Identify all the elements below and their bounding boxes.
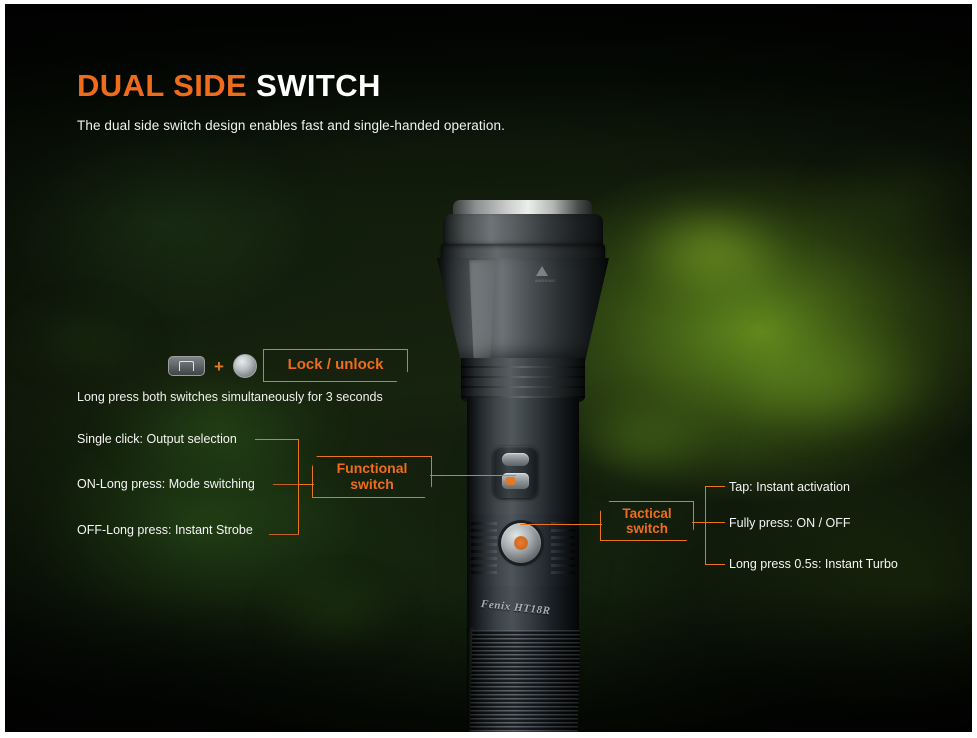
infographic-stage: DUAL SIDE SWITCH The dual side switch de… [5, 4, 972, 732]
functional-item-1: ON-Long press: Mode switching [77, 477, 255, 491]
functional-item-2: OFF-Long press: Instant Strobe [77, 523, 253, 537]
right-bracket-stub-1 [705, 522, 725, 523]
left-bracket-spine [298, 439, 299, 534]
bezel-warning-text: WARNING [515, 278, 575, 283]
page-subtitle: The dual side switch design enables fast… [77, 118, 505, 133]
header-block: DUAL SIDE SWITCH The dual side switch de… [77, 70, 505, 133]
knurled-grip [470, 630, 581, 732]
title-accent: DUAL SIDE [77, 68, 247, 103]
left-bracket-stub-1 [273, 484, 299, 485]
right-bracket-lead [692, 522, 706, 523]
title-plain: SWITCH [256, 68, 381, 103]
left-bracket-stub-0 [255, 439, 299, 440]
cooling-fins-right [551, 522, 575, 578]
tactical-badge-line1: Tactical [622, 506, 671, 521]
tactical-item-2: Long press 0.5s: Instant Turbo [729, 557, 898, 571]
tactical-switch-button[interactable] [501, 523, 541, 563]
functional-badge-line2: switch [350, 476, 394, 492]
reflector-cone [437, 258, 609, 362]
left-bracket-stub-2 [269, 534, 299, 535]
functional-badge-pointer [430, 475, 516, 476]
cooling-fins-left [471, 522, 497, 578]
tactical-switch-icon [233, 354, 257, 378]
head-neck [461, 358, 585, 402]
functional-switch-pad[interactable] [493, 446, 538, 498]
flashlight-product: WARNING Fenix HT18R [397, 200, 647, 732]
tactical-item-0: Tap: Instant activation [729, 480, 850, 494]
right-bracket-spine [705, 486, 706, 564]
functional-item-0: Single click: Output selection [77, 432, 237, 446]
lock-icons-row: + [168, 354, 257, 378]
lock-unlock-badge: Lock / unlock [263, 349, 408, 382]
functional-switch-icon [168, 356, 205, 376]
right-bracket-stub-0 [705, 486, 725, 487]
lock-instruction-note: Long press both switches simultaneously … [77, 390, 383, 404]
bezel-top [443, 214, 603, 248]
tactical-item-1: Fully press: ON / OFF [729, 516, 851, 530]
page-title: DUAL SIDE SWITCH [77, 70, 505, 101]
functional-badge-line1: Functional [337, 460, 408, 476]
functional-switch-button-upper[interactable] [502, 453, 529, 466]
tactical-badge-line2: switch [626, 521, 668, 536]
warning-triangle-icon [536, 266, 548, 276]
plus-icon: + [214, 358, 224, 375]
image-frame: DUAL SIDE SWITCH The dual side switch de… [0, 0, 977, 738]
tactical-badge-pointer [520, 524, 602, 525]
tactical-switch-badge: Tactical switch [600, 501, 694, 541]
left-bracket-lead [298, 484, 314, 485]
right-bracket-stub-2 [705, 564, 725, 565]
functional-switch-badge: Functional switch [312, 456, 432, 498]
